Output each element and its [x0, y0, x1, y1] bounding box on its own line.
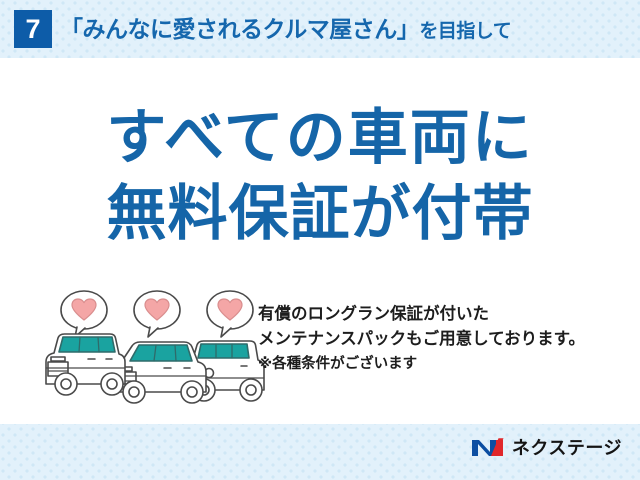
content-panel: すべての車両に 無料保証が付帯	[0, 58, 640, 424]
body-copy-line-2: メンテナンスパックもご用意しております。	[258, 327, 585, 352]
body-copy: 有償のロングラン保証が付いた メンテナンスパックもご用意しております。 ※各種条…	[258, 302, 585, 377]
speech-bubble-1	[61, 291, 107, 337]
lower-section: 有償のロングラン保証が付いた メンテナンスパックもご用意しております。 ※各種条…	[0, 286, 640, 406]
cars-illustration-svg	[44, 286, 270, 406]
speech-bubble-2	[134, 291, 180, 337]
car-minivan	[112, 342, 206, 403]
body-copy-line-1: 有償のロングラン保証が付いた	[258, 302, 585, 327]
section-number-badge: 7	[14, 10, 52, 48]
body-copy-note: ※各種条件がございます	[258, 352, 585, 377]
nextage-n-mark-icon	[471, 435, 505, 459]
speech-bubble-3	[207, 291, 253, 337]
headline: すべての車両に 無料保証が付帯	[0, 100, 640, 252]
page-root: 7 「みんなに愛されるクルマ屋さん」を目指して すべての車両に 無料保証が付帯	[0, 0, 640, 480]
car-kei-wagon	[46, 334, 125, 395]
header-band: 7 「みんなに愛されるクルマ屋さん」を目指して	[0, 0, 640, 58]
headline-line-1: すべての車両に	[0, 100, 640, 176]
brand-name: ネクステージ	[512, 434, 622, 460]
cars-illustration	[44, 286, 270, 406]
header-title: 「みんなに愛されるクルマ屋さん」を目指して	[60, 12, 511, 46]
headline-line-2: 無料保証が付帯	[0, 176, 640, 252]
header-title-suffix: を目指して	[419, 21, 511, 42]
header-title-quoted: 「みんなに愛されるクルマ屋さん」	[60, 16, 419, 42]
footer-band: ネクステージ	[0, 424, 640, 480]
brand-logo: ネクステージ	[471, 434, 622, 460]
